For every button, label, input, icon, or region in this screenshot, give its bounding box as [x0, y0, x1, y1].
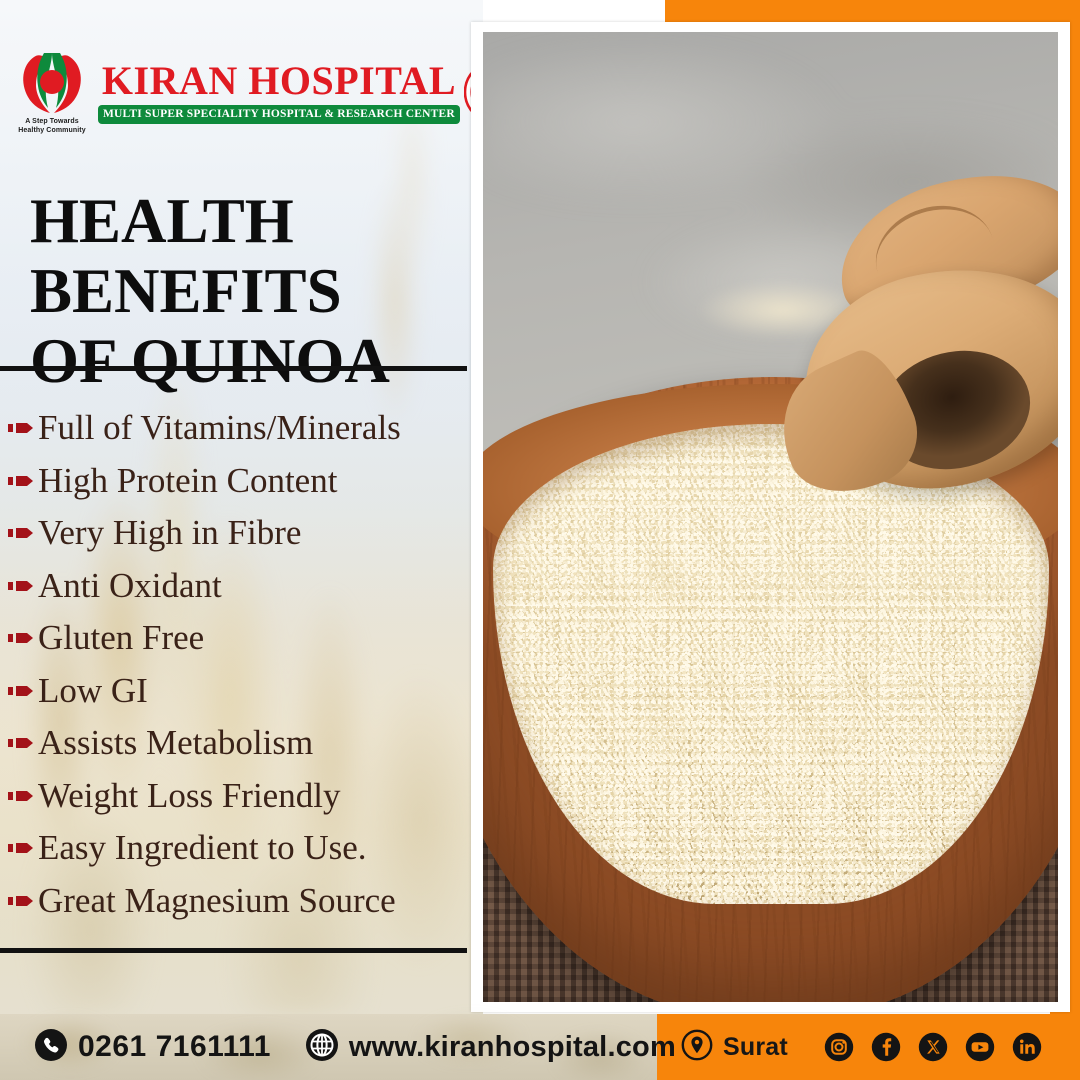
- globe-icon: [305, 1028, 339, 1067]
- list-item-label: Full of Vitamins/Minerals: [38, 408, 401, 448]
- footer-location-social-section: Surat: [657, 1014, 1080, 1080]
- instagram-icon[interactable]: [824, 1032, 854, 1062]
- arrow-bullet-icon: [8, 893, 34, 909]
- arrow-bullet-icon: [8, 735, 34, 751]
- list-item-label: Weight Loss Friendly: [38, 776, 340, 816]
- benefits-list: Full of Vitamins/Minerals High Protein C…: [8, 402, 478, 927]
- list-item: Weight Loss Friendly: [8, 770, 478, 823]
- social-links: [824, 1032, 1042, 1062]
- list-item-label: High Protein Content: [38, 461, 337, 501]
- x-twitter-icon[interactable]: [918, 1032, 948, 1062]
- photo-frame: [471, 22, 1070, 1012]
- arrow-bullet-icon: [8, 683, 34, 699]
- list-item-label: Great Magnesium Source: [38, 881, 396, 921]
- list-item: Great Magnesium Source: [8, 875, 478, 928]
- arrow-bullet-icon: [8, 630, 34, 646]
- list-item-label: Anti Oxidant: [38, 566, 222, 606]
- arrow-bullet-icon: [8, 788, 34, 804]
- youtube-icon[interactable]: [965, 1032, 995, 1062]
- list-item: Full of Vitamins/Minerals: [8, 402, 478, 455]
- brand-text-lockup: KIRAN HOSPITAL MULTI SUPER SPECIALITY HO…: [98, 60, 460, 124]
- phone-contact[interactable]: 0261 7161111: [34, 1028, 271, 1067]
- arrow-bullet-icon: [8, 420, 34, 436]
- arrow-bullet-icon: [8, 473, 34, 489]
- arrow-bullet-icon: [8, 525, 34, 541]
- facebook-icon[interactable]: [871, 1032, 901, 1062]
- location-item[interactable]: Surat: [681, 1029, 788, 1066]
- phone-number: 0261 7161111: [78, 1030, 271, 1064]
- list-item: Assists Metabolism: [8, 717, 478, 770]
- footer-contact-section: 0261 7161111 www.kiranhospital.com: [0, 1014, 657, 1080]
- city-name: Surat: [723, 1033, 788, 1062]
- phone-icon: [34, 1028, 68, 1067]
- list-item: Very High in Fibre: [8, 507, 478, 560]
- page-title: HEALTH BENEFITS OF QUINOA: [30, 186, 480, 396]
- website-url: www.kiranhospital.com: [349, 1031, 676, 1064]
- list-item-label: Very High in Fibre: [38, 513, 301, 553]
- list-item-label: Low GI: [38, 671, 148, 711]
- hospital-name: KIRAN HOSPITAL: [98, 60, 460, 102]
- brand-header: A Step Towards Healthy Community KIRAN H…: [0, 46, 470, 138]
- divider-above-list: [0, 366, 467, 371]
- list-item-label: Gluten Free: [38, 618, 204, 658]
- location-pin-icon: [681, 1029, 713, 1066]
- divider-below-list: [0, 948, 467, 953]
- list-item: Easy Ingredient to Use.: [8, 822, 478, 875]
- list-item: Low GI: [8, 665, 478, 718]
- list-item-label: Easy Ingredient to Use.: [38, 828, 367, 868]
- title-line-1: HEALTH BENEFITS: [30, 186, 480, 326]
- list-item: High Protein Content: [8, 455, 478, 508]
- list-item-label: Assists Metabolism: [38, 723, 313, 763]
- quinoa-bowl-photo: [483, 32, 1058, 1002]
- arrow-bullet-icon: [8, 578, 34, 594]
- hands-heart-logo-icon: A Step Towards Healthy Community: [14, 49, 90, 135]
- footer-bar: 0261 7161111 www.kiranhospital.com Surat: [0, 1014, 1080, 1080]
- hospital-subtitle-banner: MULTI SUPER SPECIALITY HOSPITAL & RESEAR…: [98, 105, 460, 124]
- website-link[interactable]: www.kiranhospital.com: [305, 1028, 676, 1067]
- list-item: Gluten Free: [8, 612, 478, 665]
- linkedin-icon[interactable]: [1012, 1032, 1042, 1062]
- arrow-bullet-icon: [8, 840, 34, 856]
- logo-tagline: A Step Towards Healthy Community: [14, 118, 90, 135]
- title-line-2: OF QUINOA: [30, 326, 480, 396]
- list-item: Anti Oxidant: [8, 560, 478, 613]
